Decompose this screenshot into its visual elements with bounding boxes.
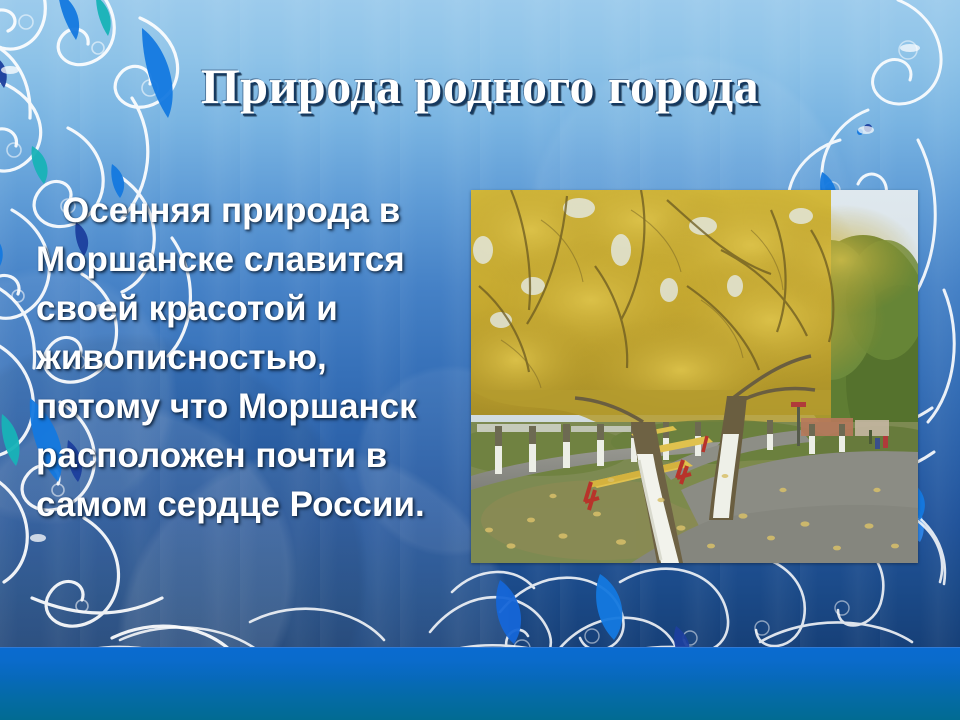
- autumn-park-photo: [471, 190, 918, 563]
- body-line: самом сердце России.: [36, 480, 456, 529]
- slide-title: Природа родного города: [0, 57, 960, 115]
- body-line: живописностью,: [36, 333, 456, 382]
- body-line: потому что Моршанск: [36, 382, 456, 431]
- footer-color-band: [0, 647, 960, 720]
- presentation-slide: Природа родного города Осенняя природа в…: [0, 0, 960, 720]
- body-line: расположен почти в: [36, 431, 456, 480]
- slide-body-text: Осенняя природа в Моршанске славится сво…: [36, 186, 456, 529]
- body-line: Осенняя природа в: [36, 186, 456, 235]
- body-line: своей красотой и: [36, 284, 456, 333]
- autumn-park-illustration: [471, 190, 918, 563]
- body-line: Моршанске славится: [36, 235, 456, 284]
